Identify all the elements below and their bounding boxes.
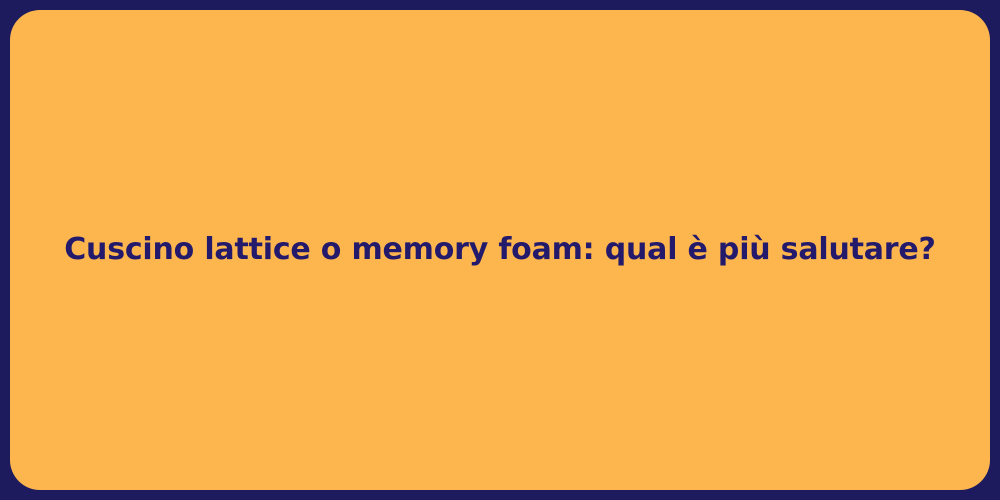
page-title: Cuscino lattice o memory foam: qual è pi… [24,231,976,269]
page-background: Cuscino lattice o memory foam: qual è pi… [0,0,1000,500]
article-title-card: Cuscino lattice o memory foam: qual è pi… [10,10,990,490]
